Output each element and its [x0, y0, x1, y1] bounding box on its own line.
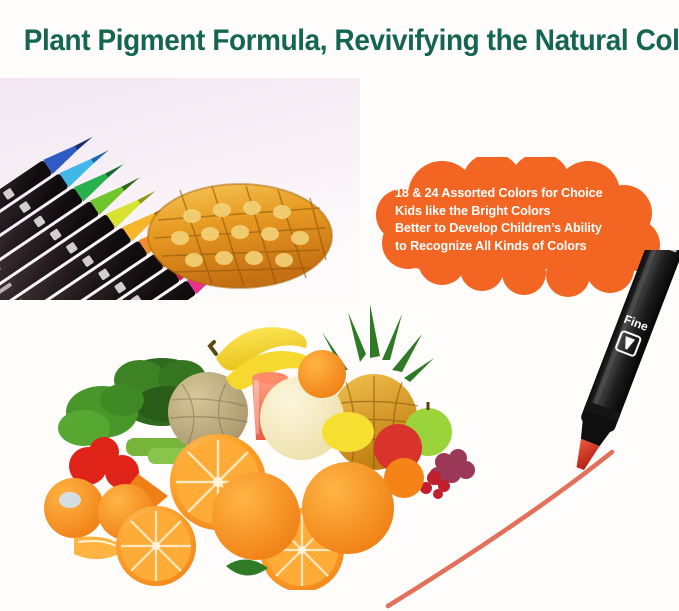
ink-stroke [380, 430, 679, 611]
callout-line-1: 18 & 24 Assorted Colors for Choice [395, 185, 653, 203]
leaf [226, 559, 268, 575]
callout-text-block: 18 & 24 Assorted Colors for Choice Kids … [395, 185, 653, 255]
product-poster: Plant Pigment Formula, Revivifying the N… [0, 0, 679, 611]
orange-center-front [212, 472, 300, 560]
orange-whole [298, 350, 346, 398]
orange-half-lower-left [116, 506, 196, 586]
callout-line-3: Better to Develop Children’s Ability [395, 220, 653, 238]
pineapple-illustration [148, 184, 332, 288]
orange-bottom-left-1 [44, 478, 104, 538]
callout-line-2: Kids like the Bright Colors [395, 203, 653, 221]
carrot-greens [58, 384, 144, 446]
lemon [322, 412, 374, 452]
stroke-path [388, 452, 612, 606]
markers-photo [0, 78, 360, 300]
page-title: Plant Pigment Formula, Revivifying the N… [24, 24, 655, 58]
